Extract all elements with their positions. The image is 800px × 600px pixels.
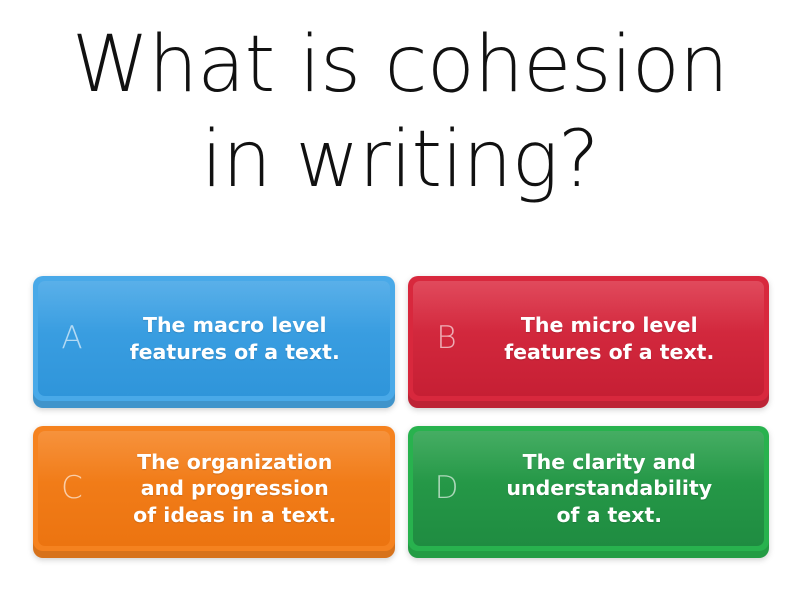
question-title: What is cohesion in writing? bbox=[20, 18, 780, 208]
answer-text-b: The micro level features of a text. bbox=[473, 312, 755, 364]
answer-text-d: The clarity and understandability of a t… bbox=[473, 449, 755, 528]
answer-letter-c: C bbox=[46, 473, 98, 504]
answer-options-grid: A The macro level features of a text. B … bbox=[33, 276, 769, 558]
answer-option-b[interactable]: B The micro level features of a text. bbox=[408, 276, 770, 408]
answer-letter-b: B bbox=[421, 323, 473, 354]
answer-text-c: The organization and progression of idea… bbox=[98, 449, 380, 528]
answer-letter-d: D bbox=[421, 473, 473, 504]
answer-option-d-body: D The clarity and understandability of a… bbox=[413, 431, 765, 546]
answer-option-a[interactable]: A The macro level features of a text. bbox=[33, 276, 395, 408]
answer-letter-a: A bbox=[46, 323, 98, 354]
answer-option-b-body: B The micro level features of a text. bbox=[413, 281, 765, 396]
answer-option-c-body: C The organization and progression of id… bbox=[38, 431, 390, 546]
answer-text-a: The macro level features of a text. bbox=[98, 312, 380, 364]
answer-option-c[interactable]: C The organization and progression of id… bbox=[33, 426, 395, 558]
question-area: What is cohesion in writing? bbox=[0, 18, 800, 258]
answer-option-d[interactable]: D The clarity and understandability of a… bbox=[408, 426, 770, 558]
answer-option-a-body: A The macro level features of a text. bbox=[38, 281, 390, 396]
quiz-slide: What is cohesion in writing? A The macro… bbox=[0, 0, 800, 600]
